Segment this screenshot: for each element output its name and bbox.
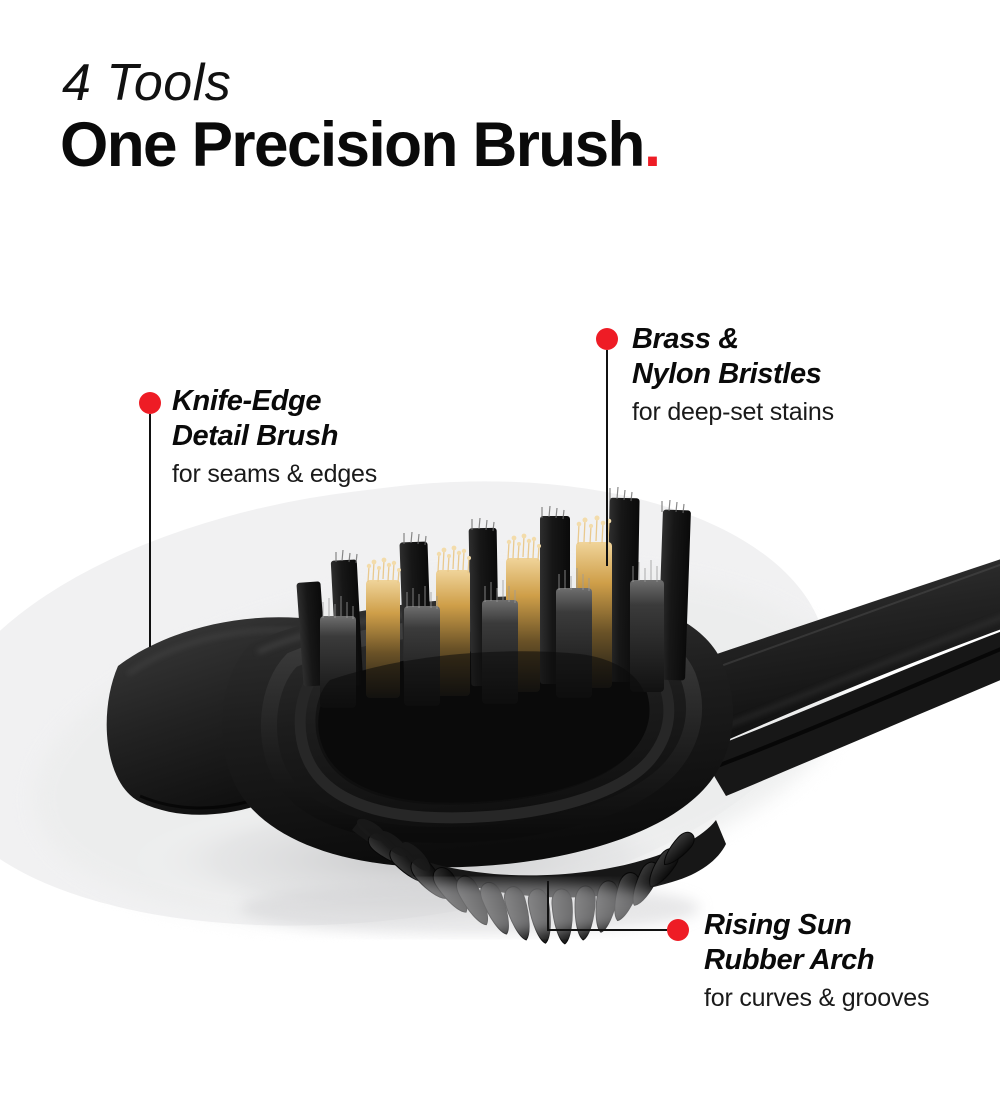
callout-bristles: Brass & Nylon Bristles for deep-set stai… — [632, 322, 834, 428]
infographic-canvas: 4 Tools One Precision Brush. — [0, 0, 1000, 1100]
product-drop-shadow — [240, 882, 700, 934]
callout-dot-knife-edge[interactable] — [139, 392, 161, 414]
callout-subtitle: for deep-set stains — [632, 396, 834, 429]
headline-block: 4 Tools One Precision Brush. — [60, 56, 940, 177]
callout-title-line2: Detail Brush — [172, 419, 377, 454]
callout-knife-edge: Knife-Edge Detail Brush for seams & edge… — [172, 384, 377, 490]
callout-title-line1: Knife-Edge — [172, 384, 377, 419]
callout-title-line2: Rubber Arch — [704, 943, 929, 978]
callout-title-line2: Nylon Bristles — [632, 357, 834, 392]
callout-title-line1: Brass & — [632, 322, 834, 357]
callout-dot-bristles[interactable] — [596, 328, 618, 350]
page-title: One Precision Brush. — [60, 113, 927, 177]
callout-subtitle: for seams & edges — [172, 458, 377, 491]
headline-eyebrow: 4 Tools — [62, 56, 940, 111]
headline-main-text: One Precision Brush — [60, 110, 644, 180]
product-photo-brush — [0, 430, 1000, 990]
product-stage — [0, 430, 1000, 990]
callout-subtitle: for curves & grooves — [704, 982, 929, 1015]
headline-red-period: . — [644, 110, 660, 180]
callout-title-line1: Rising Sun — [704, 908, 929, 943]
callout-rubber-arch: Rising Sun Rubber Arch for curves & groo… — [704, 908, 929, 1014]
